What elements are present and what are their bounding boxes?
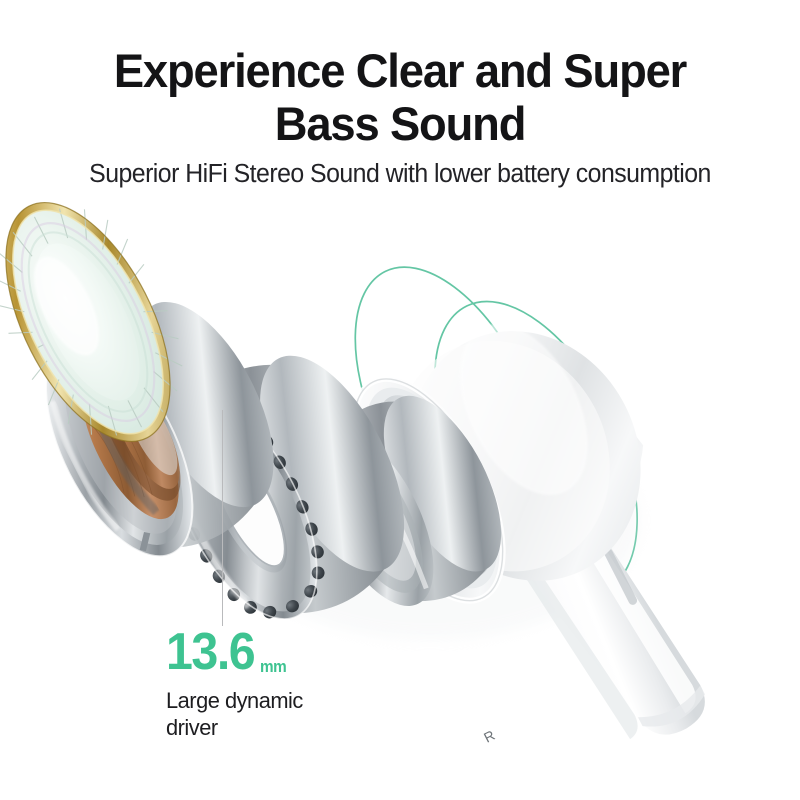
product-exploded-view-illustration: R <box>0 190 800 800</box>
driver-size-callout: 13.6 mm Large dynamic driver <box>166 626 307 742</box>
driver-size-measure: 13.6 mm <box>166 626 307 678</box>
channel-marking-r: R <box>481 727 497 746</box>
driver-size-caption: Large dynamic driver <box>166 687 303 742</box>
driver-size-value: 13.6 <box>166 626 254 678</box>
page-title: Experience Clear and Super Bass Sound <box>14 44 786 150</box>
callout-leader-line <box>222 410 223 626</box>
product-feature-banner: Experience Clear and Super Bass Sound Su… <box>0 0 800 800</box>
driver-size-unit: mm <box>260 658 286 678</box>
page-subtitle: Superior HiFi Stereo Sound with lower ba… <box>10 159 790 190</box>
